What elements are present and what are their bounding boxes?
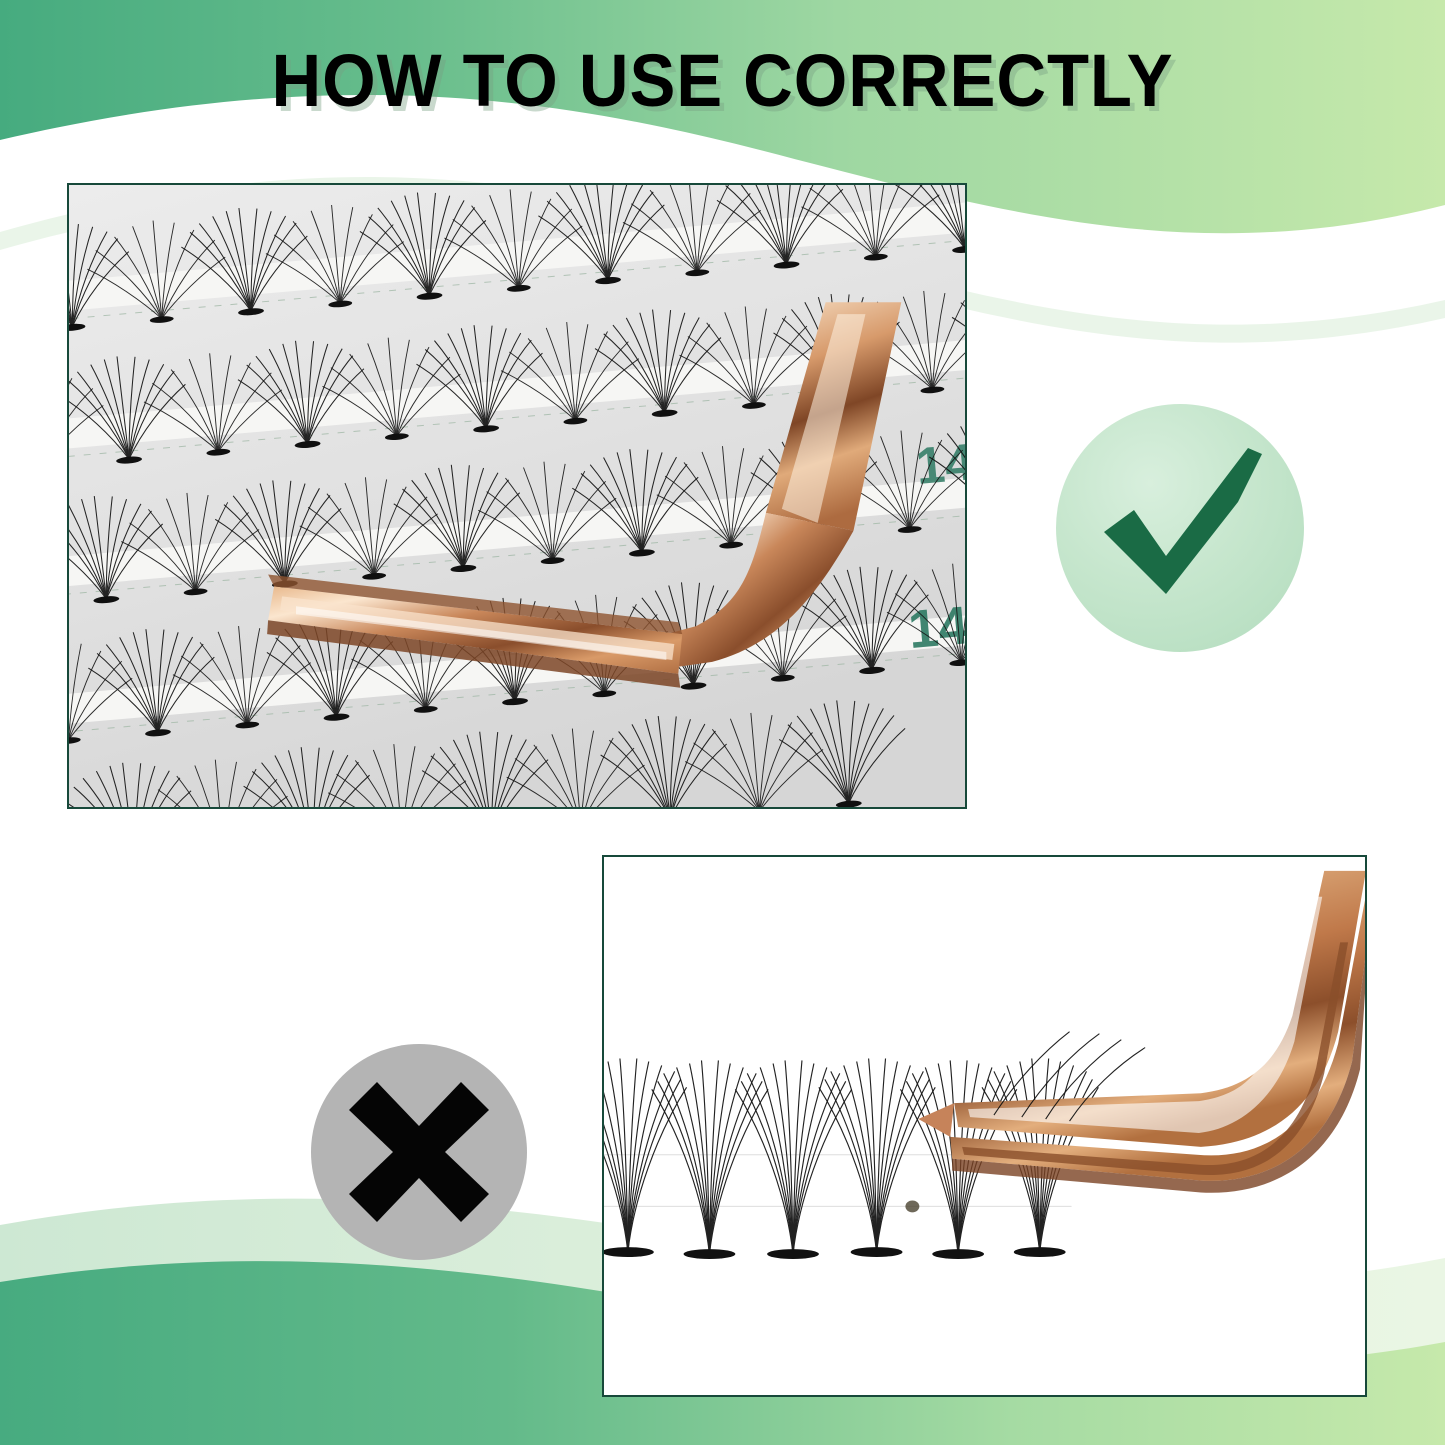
photo-correct-technique: 14 14 <box>67 183 967 809</box>
cross-icon <box>311 1044 527 1260</box>
page-title: HOW TO USE CORRECTLY <box>51 44 1395 118</box>
photo-incorrect-content <box>604 857 1365 1395</box>
photo-incorrect-technique <box>602 855 1367 1397</box>
infographic-canvas: HOW TO USE CORRECTLY <box>0 0 1445 1445</box>
check-icon <box>1056 404 1304 652</box>
photo-correct-content: 14 14 <box>69 185 965 807</box>
